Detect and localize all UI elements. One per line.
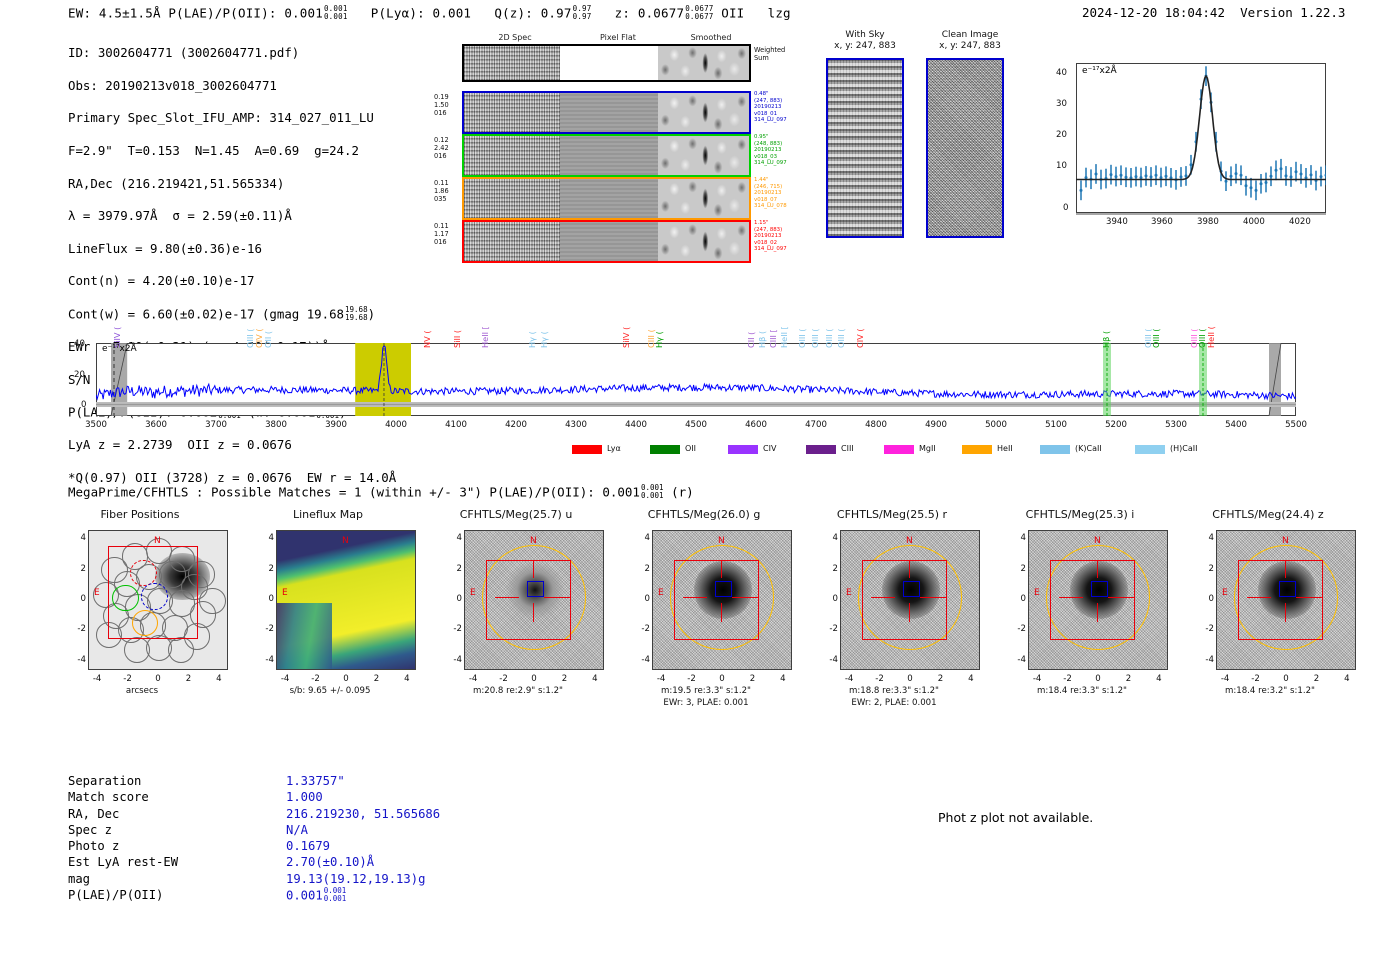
fullspec-line-label: OIII (: [1151, 329, 1161, 349]
legend-label: CIV: [763, 444, 776, 453]
panel-ytick: -2: [442, 624, 462, 634]
info-redshifts: LyA z = 2.2739 OII z = 0.0676: [68, 437, 396, 453]
fullspec-xtick: 5500: [1281, 420, 1311, 430]
panel-xtick: 0: [900, 674, 920, 684]
spec2d-row-left-stats: 0.111.17016: [434, 222, 449, 247]
legend-swatch: [728, 445, 758, 454]
panel-title: CFHTLS/Meg(26.0) g: [609, 508, 799, 521]
panel-xtick: -4: [1027, 674, 1047, 684]
fullspec-xtick: 4600: [741, 420, 771, 430]
fullspec-line-label: OIII (: [836, 329, 846, 349]
table-value: 0.0010.0010.001: [286, 887, 346, 904]
fullspec-line-label: HeII (: [1206, 326, 1216, 348]
fullspec-line-label: SiII (: [452, 330, 462, 348]
legend-swatch: [962, 445, 992, 454]
fullspec-xtick: 5400: [1221, 420, 1251, 430]
panel-caption: s/b: 9.65 +/- 0.095: [235, 686, 425, 697]
north-marker: N: [342, 536, 349, 546]
fullspec-line-label: Hγ (: [654, 331, 664, 348]
legend-swatch: [1040, 445, 1070, 454]
north-marker: N: [530, 536, 537, 546]
panel-xtick: 4: [585, 674, 605, 684]
spec2d-row-meta: 1.44"(246, 715)20190213v018_07314_LU_078: [754, 177, 787, 210]
lineplot-ytick: 20: [1056, 130, 1067, 140]
panel-ytick: -4: [66, 655, 86, 665]
panel-ytick: 2: [1194, 564, 1214, 574]
fullspec-line-label: NV (: [422, 330, 432, 348]
panel-image[interactable]: [1028, 530, 1168, 670]
spec2d-row-meta: 1.15"(247, 883)20190213v018_02314_LU_097: [754, 220, 787, 253]
fullspec-xtick: 5300: [1161, 420, 1191, 430]
table-key: P(LAE)/P(OII): [68, 887, 163, 903]
fullspec-flux-units: e⁻¹⁷x2Å: [102, 344, 137, 354]
match-header-filter: (r): [671, 485, 694, 500]
fullspec-xtick: 4800: [861, 420, 891, 430]
panel-title: CFHTLS/Meg(25.7) u: [421, 508, 611, 521]
fullspec-xtick: 4000: [381, 420, 411, 430]
panel-xtick: 4: [397, 674, 417, 684]
info-obs: Obs: 20190213v018_3002604771: [68, 78, 396, 94]
spec2d-col-title-pixelflat: Pixel Flat: [568, 33, 668, 42]
header-qz-fraction: 0.970.97: [573, 5, 592, 20]
panel-ytick: 2: [442, 564, 462, 574]
cutout-withsky-title: With Skyx, y: 247, 883: [820, 30, 910, 52]
info-wavelength: λ = 3979.97Å σ = 2.59(±0.11)Å: [68, 208, 396, 224]
spec2d-col-title-smoothed: Smoothed: [662, 33, 760, 42]
panel-ytick: -4: [630, 655, 650, 665]
panel-xtick: -2: [682, 674, 702, 684]
panel-xtick: 2: [178, 674, 198, 684]
photoz-message: Phot z plot not available.: [938, 810, 1093, 825]
fullspec-xtick: 5000: [981, 420, 1011, 430]
spec2d-weighted-sum-label: Weighted Sum: [754, 47, 785, 62]
panel-ytick: -2: [254, 624, 274, 634]
east-marker: E: [846, 588, 852, 598]
panel-ytick: 0: [66, 594, 86, 604]
legend-label: HeII: [997, 444, 1013, 453]
cutout-withsky-image: [826, 58, 904, 238]
fullspec-xtick: 3500: [81, 420, 111, 430]
header-version: Version 1.22.3: [1240, 5, 1345, 20]
panel-ytick: -4: [442, 655, 462, 665]
header-summary-line: EW: 4.5±1.5Å P(LAE)/P(OII): 0.0010.0010.…: [68, 5, 791, 21]
table-value: 0.1679: [286, 838, 330, 854]
header-plae-fraction: 0.0010.001: [324, 5, 348, 20]
panel-xtick: -4: [87, 674, 107, 684]
table-key: Est LyA rest-EW: [68, 854, 178, 870]
fullspec-line-label: HeII [: [779, 326, 789, 348]
panel-caption-secondary: EWr: 2, PLAE: 0.001: [799, 698, 989, 709]
panel-xtick: -4: [463, 674, 483, 684]
spec2d-row-left-stats: 0.122.42016: [434, 136, 449, 161]
header-plya: P(Lyα): 0.001: [371, 6, 471, 21]
spec2d-row-meta: 0.95"(248, 883)20190213v018_03314_LU_097: [754, 134, 787, 167]
panel-xtick: -2: [306, 674, 326, 684]
panel-xtick: -2: [1058, 674, 1078, 684]
info-id: ID: 3002604771 (3002604771.pdf): [68, 45, 396, 61]
table-key: RA, Dec: [68, 806, 119, 822]
fullspec-xtick: 4500: [681, 420, 711, 430]
lineplot-ytick: 10: [1056, 161, 1067, 171]
east-marker: E: [1034, 588, 1040, 598]
fullspec-xtick: 4700: [801, 420, 831, 430]
fullspec-xtick: 3900: [321, 420, 351, 430]
panel-xtick: 4: [1149, 674, 1169, 684]
fullspec-xtick: 4200: [501, 420, 531, 430]
table-value-fraction: 0.0010.001: [324, 887, 347, 902]
panel-xtick: -4: [275, 674, 295, 684]
panel-ytick: -4: [254, 655, 274, 665]
panel-xtick: 4: [961, 674, 981, 684]
fullspec-xtick: 4100: [441, 420, 471, 430]
fullspec-line-label: CIII [: [768, 329, 778, 348]
panel-ytick: -4: [1006, 655, 1026, 665]
panel-ytick: 2: [630, 564, 650, 574]
fullspec-line-label: OIII (: [824, 329, 834, 349]
table-key: Match score: [68, 789, 149, 805]
panel-xtick: 2: [742, 674, 762, 684]
panel-xtick: 0: [524, 674, 544, 684]
panel-title: Lineflux Map: [233, 508, 423, 521]
panel-title: CFHTLS/Meg(24.4) z: [1173, 508, 1363, 521]
panel-ytick: -4: [1194, 655, 1214, 665]
panel-ytick: 0: [1006, 594, 1026, 604]
table-value: 216.219230, 51.565686: [286, 806, 440, 822]
fullspec-xtick: 3700: [201, 420, 231, 430]
spec2d-row-left-stats: 0.111.86035: [434, 179, 449, 204]
match-header-fraction: 0.0010.001: [641, 484, 664, 499]
info-radec: RA,Dec (216.219421,51.565334): [68, 176, 396, 192]
spec2d-row-meta: 0.48"(247, 883)20190213v018_01314_LU_097: [754, 91, 787, 124]
table-key: Separation: [68, 773, 141, 789]
fullspec-xtick: 4900: [921, 420, 951, 430]
panel-ytick: 4: [1006, 533, 1026, 543]
fullspec-line-label: SiIV (: [621, 327, 631, 348]
panel-caption: m:19.5 re:3.3" s:1.2": [611, 686, 801, 697]
panel-ytick: -2: [630, 624, 650, 634]
panel-image[interactable]: [276, 530, 416, 670]
north-marker: N: [1094, 536, 1101, 546]
panel-xtick: 0: [1276, 674, 1296, 684]
fullspec-line-label: OIII (: [810, 329, 820, 349]
lineplot-xtick: 3980: [1197, 217, 1219, 227]
panel-ytick: 4: [442, 533, 462, 543]
header-z-fraction: 0.06770.0677: [685, 5, 713, 20]
lineplot-xtick: 3940: [1106, 217, 1128, 227]
east-marker: E: [282, 588, 288, 598]
spec2d-weighted-sum-row: [462, 44, 751, 82]
panel-caption: arcsecs: [47, 686, 237, 697]
lineplot-ytick: 0: [1063, 203, 1068, 213]
panel-ytick: 0: [254, 594, 274, 604]
panel-caption-secondary: EWr: 3, PLAE: 0.001: [611, 698, 801, 709]
table-value: 2.70(±0.10)Å: [286, 854, 374, 870]
info-lineflux: LineFlux = 9.80(±0.36)e-16: [68, 241, 396, 257]
fullspec-xtick: 5200: [1101, 420, 1131, 430]
spec2d-fiber-row: [462, 220, 751, 263]
east-marker: E: [1222, 588, 1228, 598]
fullspec-ytick: 20: [74, 370, 85, 380]
panel-title: Fiber Positions: [45, 508, 235, 521]
panel-image[interactable]: [1216, 530, 1356, 670]
panel-xtick: 4: [1337, 674, 1357, 684]
panel-ytick: 0: [818, 594, 838, 604]
panel-xtick: 0: [1088, 674, 1108, 684]
info-seeing-params: F=2.9" T=0.153 N=1.45 A=0.69 g=24.2: [68, 143, 396, 159]
header-ew-plae: EW: 4.5±1.5Å P(LAE)/P(OII): 0.001: [68, 6, 323, 21]
fullspec-xtick: 3600: [141, 420, 171, 430]
fullspec-line-label: Hβ (: [757, 331, 767, 348]
header-qz: Q(z): 0.97: [494, 6, 571, 21]
cutout-clean-image: [926, 58, 1004, 238]
panel-xtick: 2: [1118, 674, 1138, 684]
spec2d-row-left-stats: 0.191.50016: [434, 93, 449, 118]
panel-ytick: 2: [818, 564, 838, 574]
info-cont-w: Cont(w) = 6.60(±0.02)e-17 (gmag 19.6819.…: [68, 306, 396, 323]
info-cont-n: Cont(n) = 4.20(±0.10)e-17: [68, 273, 396, 289]
legend-label: Lyα: [607, 444, 621, 453]
panel-ytick: 4: [66, 533, 86, 543]
legend-swatch: [884, 445, 914, 454]
panel-xtick: -4: [839, 674, 859, 684]
panel-caption: m:18.8 re:3.3" s:1.2": [799, 686, 989, 697]
spec2d-fiber-row: [462, 134, 751, 177]
panel-ytick: 4: [254, 533, 274, 543]
panel-xtick: 2: [930, 674, 950, 684]
panel-xtick: 2: [1306, 674, 1326, 684]
header-flag: lzg: [768, 6, 791, 21]
panel-caption: m:18.4 re:3.2" s:1.2": [1175, 686, 1365, 697]
panel-image[interactable]: [88, 530, 228, 670]
table-key: Spec z: [68, 822, 112, 838]
panel-xtick: 0: [336, 674, 356, 684]
table-value: 19.13(19.12,19.13)g: [286, 871, 425, 887]
panel-ytick: -2: [1194, 624, 1214, 634]
north-marker: N: [906, 536, 913, 546]
header-z-suffix: OII: [721, 6, 744, 21]
match-header: MegaPrime/CFHTLS : Possible Matches = 1 …: [68, 484, 694, 500]
full-spectrum-plot: e⁻¹⁷x2Å 40 20 0: [96, 343, 1296, 416]
fullspec-line-label: Hγ (: [527, 331, 537, 348]
panel-xtick: -2: [870, 674, 890, 684]
fullspec-line-label: Hβ (: [1101, 331, 1111, 348]
legend-label: (H)CaII: [1170, 444, 1197, 453]
panel-caption: m:18.4 re:3.3" s:1.2": [987, 686, 1177, 697]
table-value: N/A: [286, 822, 308, 838]
panel-ytick: -2: [818, 624, 838, 634]
fullspec-line-label: OII (: [263, 331, 273, 348]
panel-xtick: 0: [148, 674, 168, 684]
fullspec-ytick: 40: [74, 339, 85, 349]
panel-ytick: 4: [818, 533, 838, 543]
panel-ytick: -4: [818, 655, 838, 665]
panel-title: CFHTLS/Meg(25.3) i: [985, 508, 1175, 521]
legend-label: OII: [685, 444, 696, 453]
panel-xtick: -2: [118, 674, 138, 684]
legend-label: CIII: [841, 444, 854, 453]
legend-swatch: [1135, 445, 1165, 454]
panel-ytick: -2: [66, 624, 86, 634]
table-value: 1.000: [286, 789, 323, 805]
panel-image[interactable]: [464, 530, 604, 670]
fullspec-line-label: HeII [: [480, 326, 490, 348]
panel-xtick: 4: [209, 674, 229, 684]
table-key: mag: [68, 871, 90, 887]
match-header-text: MegaPrime/CFHTLS : Possible Matches = 1 …: [68, 485, 640, 500]
header-z: z: 0.0677: [615, 6, 685, 21]
legend-swatch: [806, 445, 836, 454]
fullspec-line-label: Hγ (: [539, 331, 549, 348]
panel-ytick: 0: [1194, 594, 1214, 604]
spec2d-fiber-row: [462, 91, 751, 134]
fullspec-line-label: OIII (: [797, 329, 807, 349]
fullspec-ytick: 0: [81, 400, 86, 410]
table-value: 1.33757": [286, 773, 345, 789]
legend-label: (K)CaII: [1075, 444, 1102, 453]
panel-ytick: 0: [442, 594, 462, 604]
lineplot-ytick: 40: [1056, 68, 1067, 78]
fullspec-line-label: CIV (: [855, 328, 865, 348]
panel-ytick: 0: [630, 594, 650, 604]
east-marker: E: [658, 588, 664, 598]
lineplot-xtick: 4000: [1243, 217, 1265, 227]
panel-xtick: 2: [366, 674, 386, 684]
panel-title: CFHTLS/Meg(25.5) r: [797, 508, 987, 521]
cutout-clean-title: Clean Imagex, y: 247, 883: [920, 30, 1020, 52]
panel-ytick: 2: [1006, 564, 1026, 574]
lineplot-ytick: 30: [1056, 99, 1067, 109]
east-marker: E: [94, 588, 100, 598]
lineplot-xtick: 4020: [1289, 217, 1311, 227]
panel-image[interactable]: [840, 530, 980, 670]
north-marker: N: [718, 536, 725, 546]
panel-xtick: -4: [1215, 674, 1235, 684]
east-marker: E: [470, 588, 476, 598]
fullspec-line-label: CII (: [746, 332, 756, 348]
header-datetime: 2024-12-20 18:04:42: [1082, 5, 1225, 20]
lineplot-svg: [1076, 63, 1326, 215]
legend-label: MgII: [919, 444, 936, 453]
panel-xtick: -2: [1246, 674, 1266, 684]
legend-swatch: [572, 445, 602, 454]
panel-caption: m:20.8 re:2.9" s:1.2": [423, 686, 613, 697]
info-primary-spec: Primary Spec_Slot_IFU_AMP: 314_027_011_L…: [68, 110, 396, 126]
panel-xtick: -4: [651, 674, 671, 684]
panel-ytick: -2: [1006, 624, 1026, 634]
panel-image[interactable]: [652, 530, 792, 670]
panel-xtick: 2: [554, 674, 574, 684]
spec2d-col-title-2dspec: 2D Spec: [462, 33, 568, 42]
panel-ytick: 2: [254, 564, 274, 574]
emission-line-plot: e⁻¹⁷x2Å 40 30 20 10 0 3940 3960 3980 400…: [1038, 55, 1332, 240]
legend-swatch: [650, 445, 680, 454]
table-key: Photo z: [68, 838, 119, 854]
lineplot-xtick: 3960: [1151, 217, 1173, 227]
panel-xtick: 0: [712, 674, 732, 684]
panel-ytick: 4: [1194, 533, 1214, 543]
fullspec-xtick: 5100: [1041, 420, 1071, 430]
fullspec-xtick: 4300: [561, 420, 591, 430]
panel-ytick: 2: [66, 564, 86, 574]
panel-xtick: -2: [494, 674, 514, 684]
spec2d-fiber-row: [462, 177, 751, 220]
panel-ytick: 4: [630, 533, 650, 543]
fullspec-svg: [96, 343, 1296, 416]
fullspec-xtick: 4400: [621, 420, 651, 430]
north-marker: N: [1282, 536, 1289, 546]
header-timestamp-version: 2024-12-20 18:04:42 Version 1.22.3: [1082, 5, 1345, 20]
north-marker: N: [154, 536, 161, 546]
fullspec-xtick: 3800: [261, 420, 291, 430]
panel-xtick: 4: [773, 674, 793, 684]
source-info-block: ID: 3002604771 (3002604771.pdf) Obs: 201…: [68, 29, 396, 503]
